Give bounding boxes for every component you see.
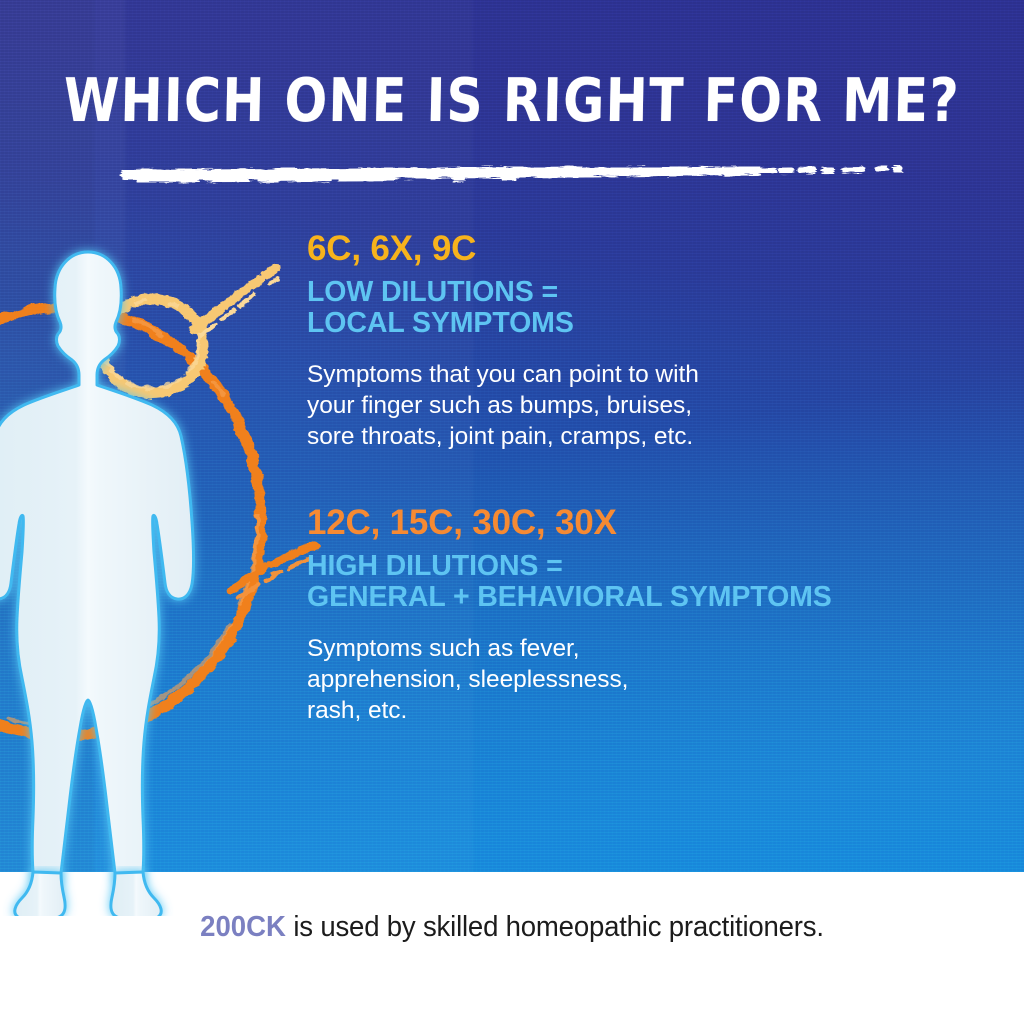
footer-highlight: 200CK (200, 911, 286, 943)
subhead-low: LOW DILUTIONS = LOCAL SYMPTOMS (307, 277, 997, 339)
body-high-line1: Symptoms such as fever, (307, 635, 580, 662)
subhead-high-line1: HIGH DILUTIONS = (307, 550, 563, 582)
body-low-line2: your finger such as bumps, bruises, (307, 392, 692, 419)
footer-note: 200CK is used by skilled homeopathic pra… (26, 910, 999, 944)
body-low: Symptoms that you can point to with your… (307, 359, 997, 452)
body-high-line3: rash, etc. (307, 697, 407, 724)
human-figure-svg (0, 236, 238, 916)
body-low-line1: Symptoms that you can point to with (307, 361, 699, 388)
subhead-high-line2: GENERAL + BEHAVIORAL SYMPTOMS (307, 581, 832, 613)
dilution-block-high: 12C, 15C, 30C, 30X HIGH DILUTIONS = GENE… (307, 505, 997, 726)
dose-label-low: 6C, 6X, 9C (307, 231, 997, 268)
human-figure (0, 236, 238, 916)
page-title-text: WHICH ONE IS RIGHT FOR ME? (63, 70, 960, 132)
dose-label-high: 12C, 15C, 30C, 30X (307, 505, 997, 542)
subhead-low-line1: LOW DILUTIONS = (307, 276, 558, 308)
body-low-line3: sore throats, joint pain, cramps, etc. (307, 423, 693, 450)
footer-rest: is used by skilled homeopathic practitio… (286, 911, 824, 943)
content-column: 6C, 6X, 9C LOW DILUTIONS = LOCAL SYMPTOM… (307, 231, 997, 726)
dilution-block-low: 6C, 6X, 9C LOW DILUTIONS = LOCAL SYMPTOM… (307, 231, 997, 452)
title-brush-underline (118, 160, 908, 190)
body-high-line2: apprehension, sleeplessness, (307, 666, 628, 693)
subhead-low-line2: LOCAL SYMPTOMS (307, 307, 574, 339)
page-title: WHICH ONE IS RIGHT FOR ME? (0, 70, 1024, 132)
body-high: Symptoms such as fever, apprehension, sl… (307, 633, 997, 726)
infographic-poster: WHICH ONE IS RIGHT FOR ME? 6C, 6X, 9C LO… (0, 0, 1024, 1024)
subhead-high: HIGH DILUTIONS = GENERAL + BEHAVIORAL SY… (307, 551, 997, 613)
